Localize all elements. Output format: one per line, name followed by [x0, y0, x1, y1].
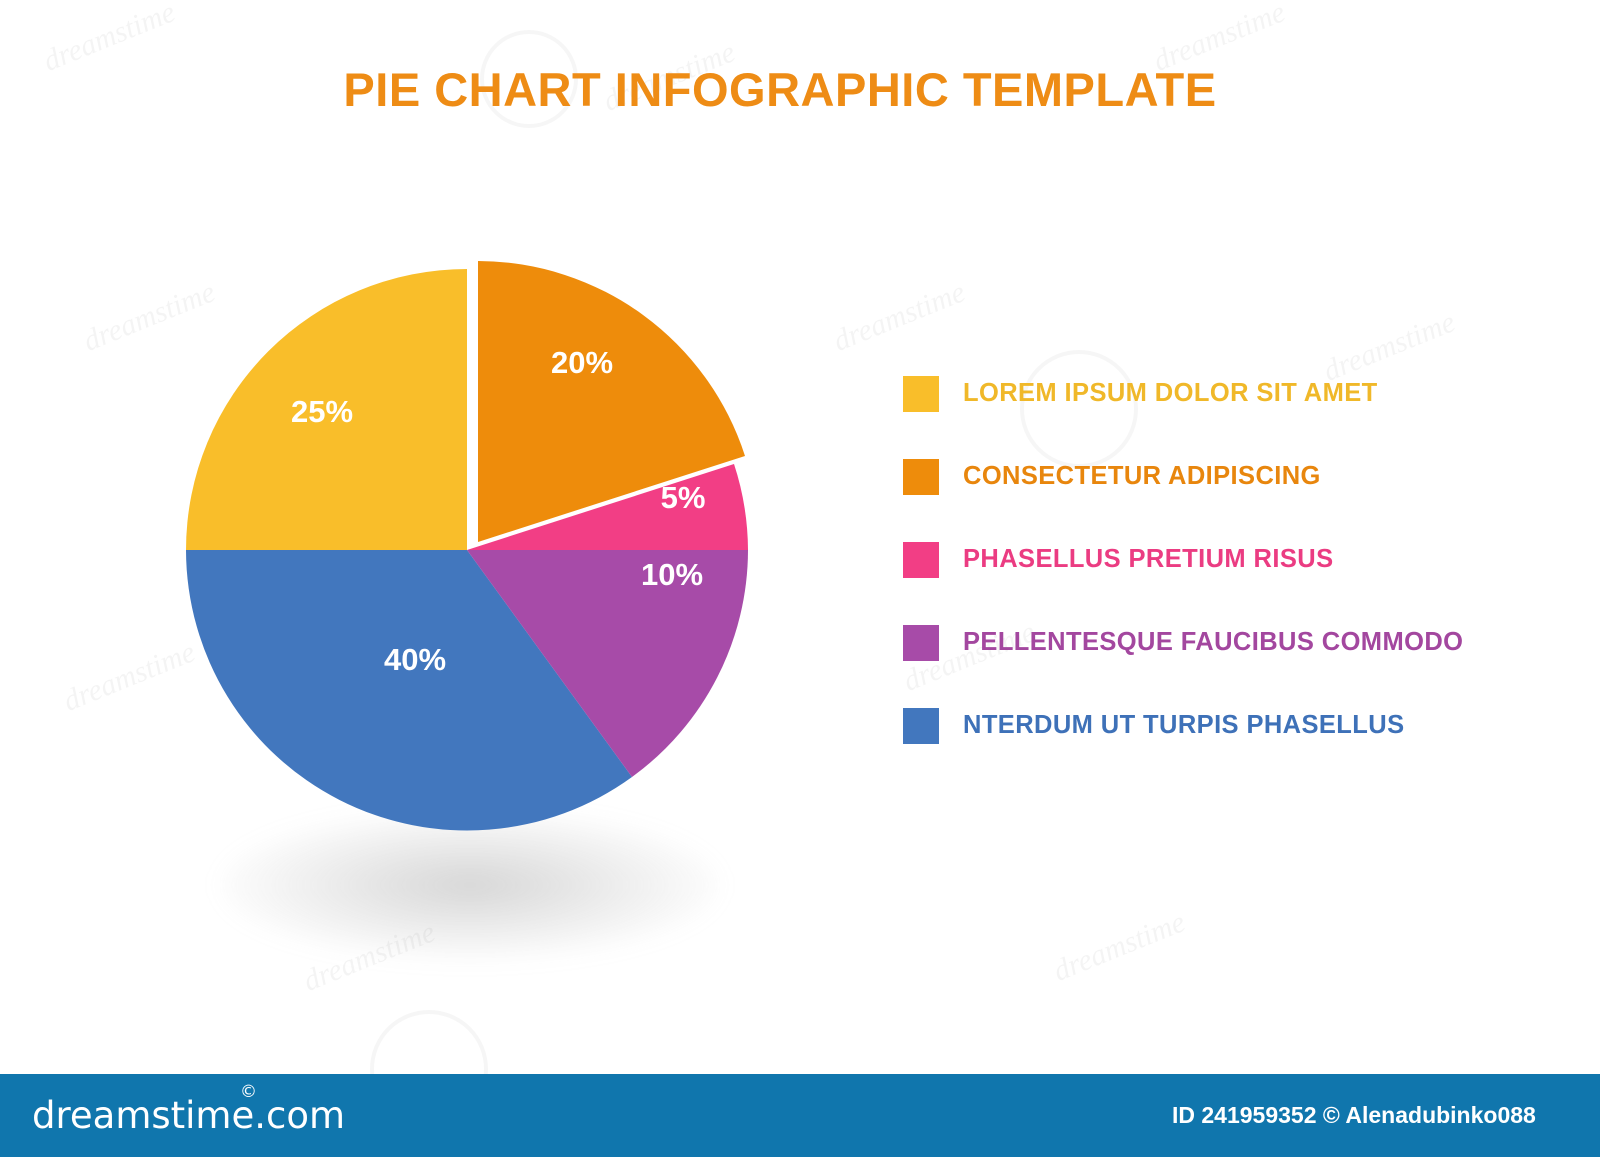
- pie-chart-svg: 25% 20% 5% 10% 40%: [150, 210, 830, 890]
- copyright-icon: ©: [240, 1082, 257, 1102]
- legend-swatch-icon: [903, 459, 939, 495]
- legend-swatch-icon: [903, 708, 939, 744]
- legend-item-label: NTERDUM UT TURPIS PHASELLUS: [963, 711, 1404, 740]
- legend-item-label: PELLENTESQUE FAUCIBUS COMMODO: [963, 628, 1463, 657]
- legend-item-label: PHASELLUS PRETIUM RISUS: [963, 545, 1333, 574]
- legend-item-nterdum-ut-turpis-phasellus[interactable]: NTERDUM UT TURPIS PHASELLUS: [903, 684, 1543, 767]
- infographic-canvas: dreamstime dreamstime dreamstime dreamst…: [0, 0, 1600, 1157]
- legend: LOREM IPSUM DOLOR SIT AMET CONSECTETUR A…: [903, 352, 1543, 767]
- pie-value-label-10: 10%: [641, 557, 703, 592]
- legend-item-label: LOREM IPSUM DOLOR SIT AMET: [963, 379, 1378, 408]
- legend-item-consectetur-adipiscing[interactable]: CONSECTETUR ADIPISCING: [903, 435, 1543, 518]
- legend-item-lorem-ipsum-dolor-sit-amet[interactable]: LOREM IPSUM DOLOR SIT AMET: [903, 352, 1543, 435]
- legend-swatch-icon: [903, 625, 939, 661]
- pie-value-label-5: 5%: [661, 480, 706, 515]
- legend-item-pellentesque-faucibus-commodo[interactable]: PELLENTESQUE FAUCIBUS COMMODO: [903, 601, 1543, 684]
- page-title: PIE CHART INFOGRAPHIC TEMPLATE: [0, 62, 1560, 117]
- legend-swatch-icon: [903, 376, 939, 412]
- legend-item-phasellus-pretium-risus[interactable]: PHASELLUS PRETIUM RISUS: [903, 518, 1543, 601]
- pie-value-label-40: 40%: [384, 642, 446, 677]
- footer-bar: dreamstime.com © ID 241959352 © Alenadub…: [0, 1074, 1600, 1157]
- dreamstime-logo[interactable]: dreamstime.com ©: [32, 1094, 345, 1137]
- image-credit: ID 241959352 © Alenadubinko088: [1172, 1102, 1536, 1129]
- pie-value-label-20: 20%: [551, 345, 613, 380]
- legend-item-label: CONSECTETUR ADIPISCING: [963, 462, 1321, 491]
- pie-value-label-25: 25%: [291, 394, 353, 429]
- pie-chart: 25% 20% 5% 10% 40%: [150, 210, 830, 890]
- legend-swatch-icon: [903, 542, 939, 578]
- watermark-text: dreamstime: [829, 275, 970, 359]
- dreamstime-logo-text: dreamstime.com: [32, 1094, 345, 1137]
- watermark-text: dreamstime: [1049, 905, 1190, 989]
